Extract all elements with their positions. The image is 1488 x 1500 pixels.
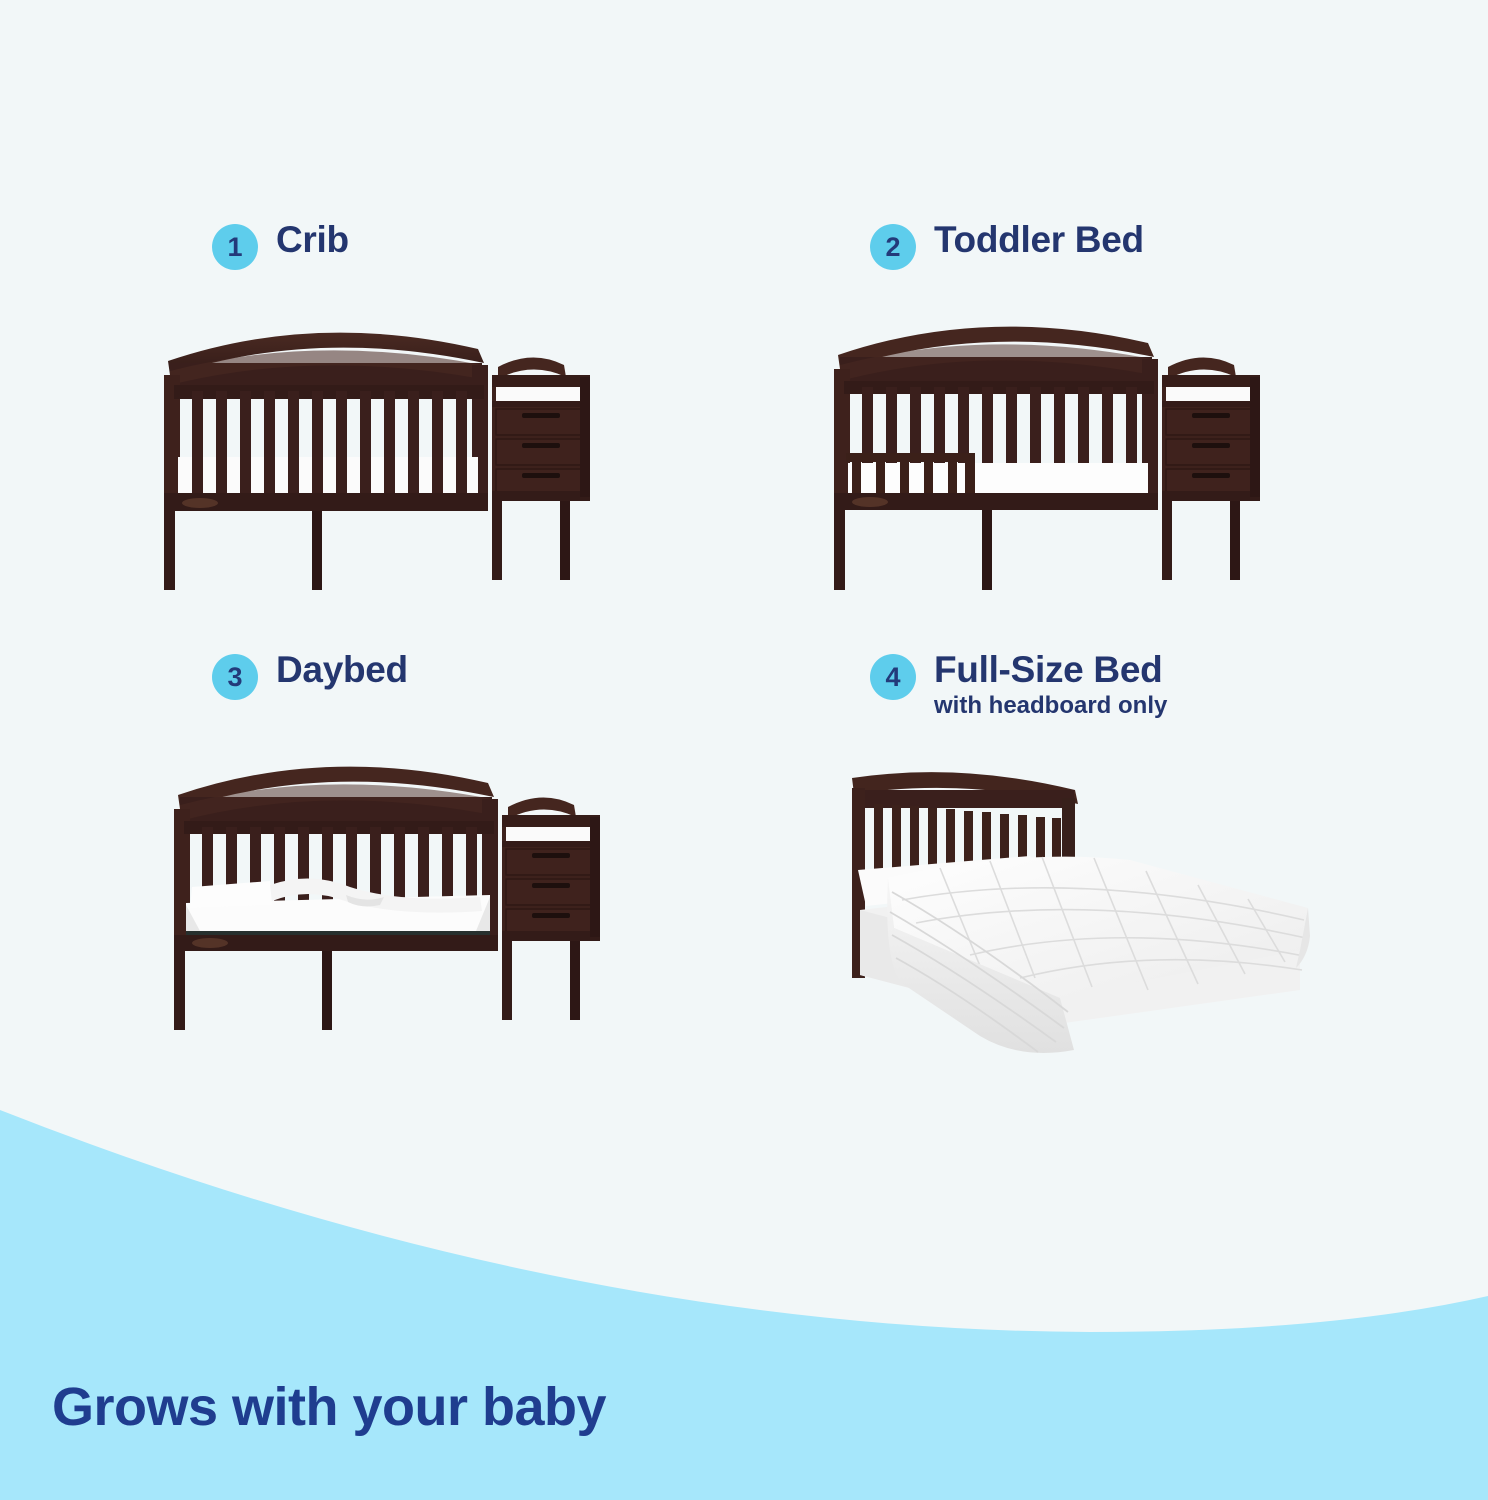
banner-headline: Grows with your baby <box>52 1376 606 1438</box>
daybed-illustration <box>150 745 650 1035</box>
banner-curve <box>0 1100 1488 1500</box>
full-size-bed-illustration <box>830 760 1330 1060</box>
bottom-banner: Grows with your baby <box>0 1100 1488 1500</box>
step-3-label: 3 Daybed <box>212 650 408 700</box>
step-title: Full-Size Bed <box>934 650 1167 689</box>
step-title-group: Full-Size Bed with headboard only <box>934 650 1167 720</box>
step-title: Daybed <box>276 650 408 689</box>
step-title-group: Daybed <box>276 650 408 689</box>
step-number-badge: 3 <box>212 654 258 700</box>
step-number-badge: 4 <box>870 654 916 700</box>
step-4-label: 4 Full-Size Bed with headboard only <box>870 650 1167 720</box>
step-number-badge: 2 <box>870 224 916 270</box>
step-title: Toddler Bed <box>934 220 1144 259</box>
crib-illustration <box>140 305 640 595</box>
infographic-canvas: 1 Crib <box>0 0 1488 1500</box>
step-title: Crib <box>276 220 349 259</box>
step-2-label: 2 Toddler Bed <box>870 220 1144 270</box>
step-title-group: Crib <box>276 220 349 259</box>
step-title-group: Toddler Bed <box>934 220 1144 259</box>
step-subtitle: with headboard only <box>934 692 1167 720</box>
toddler-bed-illustration <box>810 305 1310 595</box>
step-number-badge: 1 <box>212 224 258 270</box>
step-1-label: 1 Crib <box>212 220 349 270</box>
